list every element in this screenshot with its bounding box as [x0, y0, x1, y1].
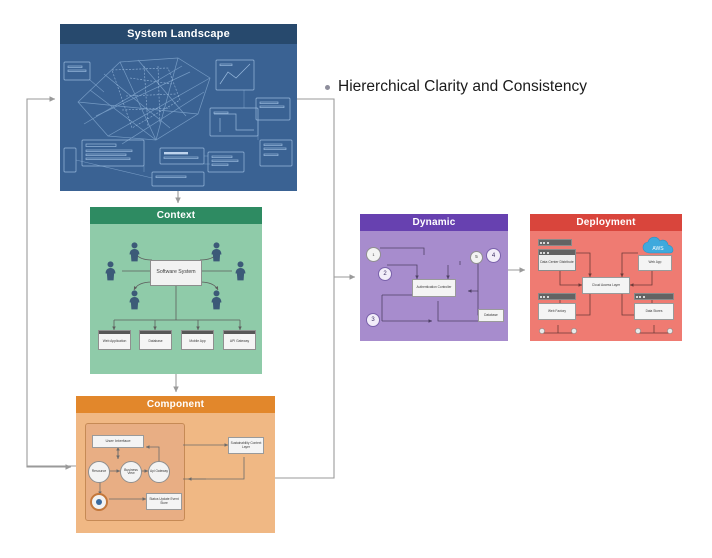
panel-context[interactable]: Context: [90, 207, 262, 374]
cloud-icon: AWS: [642, 236, 674, 256]
actor-icon: [104, 261, 117, 281]
blueprint-map: [60, 44, 297, 191]
deployment-server-rack: [634, 293, 674, 300]
context-child-label: Database: [140, 334, 171, 349]
deployment-node-data-stores[interactable]: Data Stores: [634, 303, 674, 320]
component-node-sustainability-context-layer[interactable]: Sustainability Context Layer: [228, 437, 264, 454]
context-child-mobile-app[interactable]: Mobile App: [181, 330, 214, 350]
dynamic-step-2[interactable]: 2: [378, 267, 392, 281]
panel-title-system-landscape: System Landscape: [60, 24, 297, 44]
context-child-label: Web Application: [99, 334, 130, 349]
panel-title-context: Context: [90, 207, 262, 224]
wire-stack-to-dynamic: [297, 99, 334, 478]
dynamic-center-node[interactable]: Authentication Controller: [412, 279, 456, 297]
component-db-icon[interactable]: [90, 493, 108, 511]
panel-system-landscape[interactable]: System Landscape: [60, 24, 297, 191]
panel-deployment[interactable]: Deployment: [530, 214, 682, 341]
panel-title-dynamic: Dynamic: [360, 214, 508, 231]
actor-icon: [210, 290, 223, 310]
context-child-web-application[interactable]: Web Application: [98, 330, 131, 350]
rack-bar: [635, 294, 673, 299]
bullet-text: Hiererchical Clarity and Consistency: [338, 78, 587, 96]
panel-body-component: User Interface Resource Business View Ap…: [76, 413, 275, 533]
dynamic-step-3[interactable]: 3: [366, 313, 380, 327]
panel-dynamic[interactable]: Dynamic: [360, 214, 508, 341]
component-node-status-update-event-store[interactable]: Status Update Event Store: [146, 493, 182, 510]
deployment-server-rack: [538, 293, 576, 300]
component-node-user-interface[interactable]: User Interface: [92, 435, 144, 448]
panel-component[interactable]: Component: [76, 396, 275, 533]
actor-icon: [128, 290, 141, 310]
dynamic-step-1[interactable]: 1: [366, 247, 381, 262]
actor-icon: [210, 242, 223, 262]
panel-title-deployment: Deployment: [530, 214, 682, 231]
actor-icon: [128, 242, 141, 262]
context-child-label: Mobile App: [182, 334, 213, 349]
panel-title-component: Component: [76, 396, 275, 413]
panel-body-deployment: Data Center Distribute AWS Web App Cloud…: [530, 231, 682, 341]
deployment-node-web-app[interactable]: Web App: [638, 255, 672, 271]
diagram-canvas: Hiererchical Clarity and Consistency Sys…: [0, 0, 712, 558]
deployment-server-rack: [538, 239, 572, 246]
context-center-node[interactable]: Software System: [150, 260, 202, 286]
context-child-database[interactable]: Database: [139, 330, 172, 350]
panel-body-system-landscape: [60, 44, 297, 191]
wire-left-loop-return: [27, 466, 71, 467]
component-node-resource[interactable]: Resource: [88, 461, 110, 483]
panel-body-context: Software System Web Application Database…: [90, 224, 262, 374]
deployment-center-node[interactable]: Cloud Access Layer: [582, 277, 630, 294]
dynamic-step-5[interactable]: 5: [470, 251, 483, 264]
rack-bar: [539, 240, 571, 245]
rack-bar: [539, 294, 575, 299]
panel-body-dynamic: 1 2 3 5 4 Authentication Controller Data…: [360, 231, 508, 341]
dynamic-step-4[interactable]: 4: [486, 248, 501, 263]
context-child-api-gateway[interactable]: API Gateway: [223, 330, 256, 350]
deployment-node-data-center-distribute[interactable]: Data Center Distribute: [538, 249, 576, 271]
component-node-business-view[interactable]: Business View: [120, 461, 142, 483]
context-wires: [90, 224, 262, 374]
component-node-api-gateway[interactable]: Api Gateway: [148, 461, 170, 483]
svg-text:AWS: AWS: [652, 246, 664, 252]
bullet-dot-icon: [325, 85, 330, 90]
actor-icon: [234, 261, 247, 281]
bullet-row: Hiererchical Clarity and Consistency: [325, 78, 587, 96]
deployment-node-web-factory[interactable]: Web Factory: [538, 303, 576, 320]
dynamic-side-node[interactable]: Database: [478, 309, 504, 322]
deployment-node-label: Data Center Distribute: [539, 255, 575, 270]
context-child-label: API Gateway: [224, 334, 255, 349]
